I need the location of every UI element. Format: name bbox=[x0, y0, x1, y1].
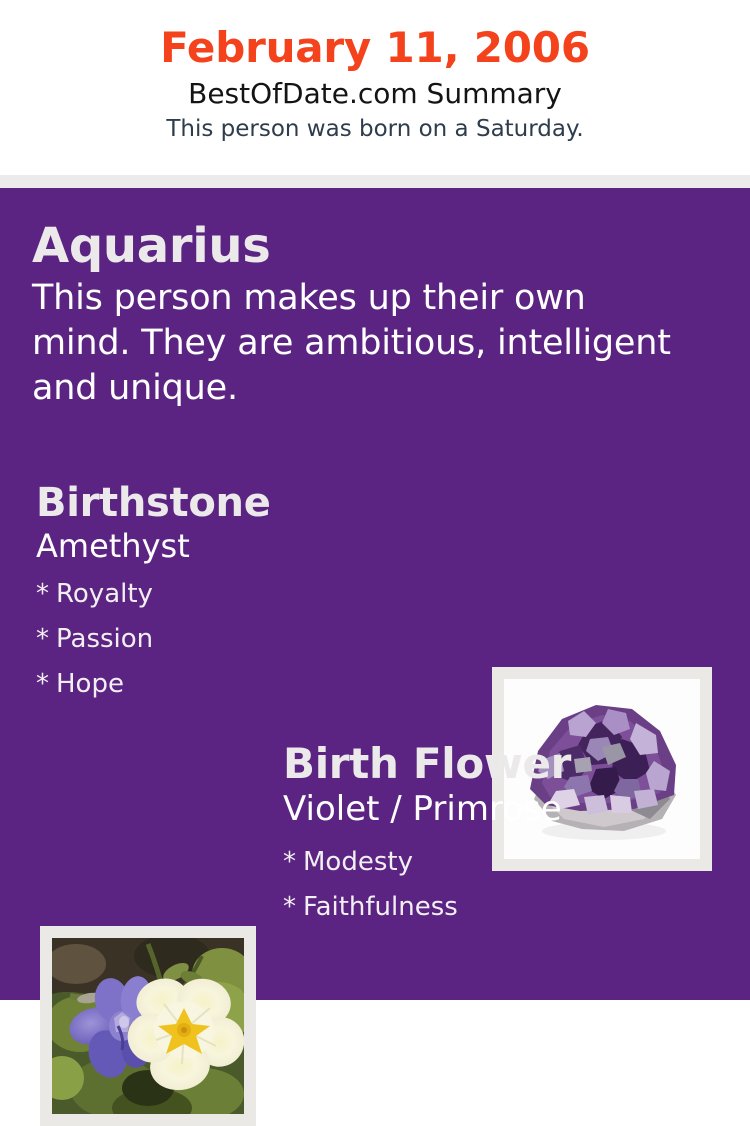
birth-flower-name: Violet / Primrose bbox=[283, 788, 733, 830]
birth-flower-trait-list: *Modesty *Faithfulness bbox=[283, 840, 733, 930]
details-panel: Aquarius This person makes up their own … bbox=[0, 188, 750, 1000]
trait-label: Modesty bbox=[303, 847, 413, 877]
zodiac-sign-name: Aquarius bbox=[32, 218, 692, 274]
violet-primrose-flower-icon bbox=[52, 938, 244, 1114]
header-divider bbox=[0, 175, 750, 188]
trait-label: Hope bbox=[56, 669, 124, 699]
trait-label: Passion bbox=[56, 624, 153, 654]
born-day-text: This person was born on a Saturday. bbox=[0, 114, 750, 144]
list-item: *Royalty bbox=[36, 572, 476, 617]
birth-flower-photo bbox=[52, 938, 244, 1114]
birthstone-section: Birthstone Amethyst *Royalty *Passion *H… bbox=[36, 478, 476, 707]
card-header: February 11, 2006 BestOfDate.com Summary… bbox=[0, 0, 750, 175]
trait-label: Royalty bbox=[56, 579, 153, 609]
list-item: *Hope bbox=[36, 662, 476, 707]
zodiac-description: This person makes up their own mind. The… bbox=[32, 276, 692, 411]
birthstone-name: Amethyst bbox=[36, 526, 476, 566]
bullet-marker-icon: * bbox=[36, 572, 56, 617]
list-item: *Modesty bbox=[283, 840, 733, 885]
page-title: February 11, 2006 bbox=[0, 22, 750, 74]
birth-flower-section: Birth Flower Violet / Primrose *Modesty … bbox=[283, 738, 733, 930]
birth-flower-heading: Birth Flower bbox=[283, 738, 733, 790]
trait-label: Faithfulness bbox=[303, 892, 458, 922]
zodiac-section: Aquarius This person makes up their own … bbox=[32, 218, 692, 411]
birth-flower-photo-frame bbox=[40, 926, 256, 1126]
bullet-marker-icon: * bbox=[36, 662, 56, 707]
site-summary-subtitle: BestOfDate.com Summary bbox=[0, 76, 750, 112]
list-item: *Passion bbox=[36, 617, 476, 662]
bullet-marker-icon: * bbox=[283, 840, 303, 885]
birthstone-trait-list: *Royalty *Passion *Hope bbox=[36, 572, 476, 707]
list-item: *Faithfulness bbox=[283, 885, 733, 930]
bullet-marker-icon: * bbox=[36, 617, 56, 662]
birthstone-heading: Birthstone bbox=[36, 478, 476, 528]
bullet-marker-icon: * bbox=[283, 885, 303, 930]
summary-card: February 11, 2006 BestOfDate.com Summary… bbox=[0, 0, 750, 1000]
